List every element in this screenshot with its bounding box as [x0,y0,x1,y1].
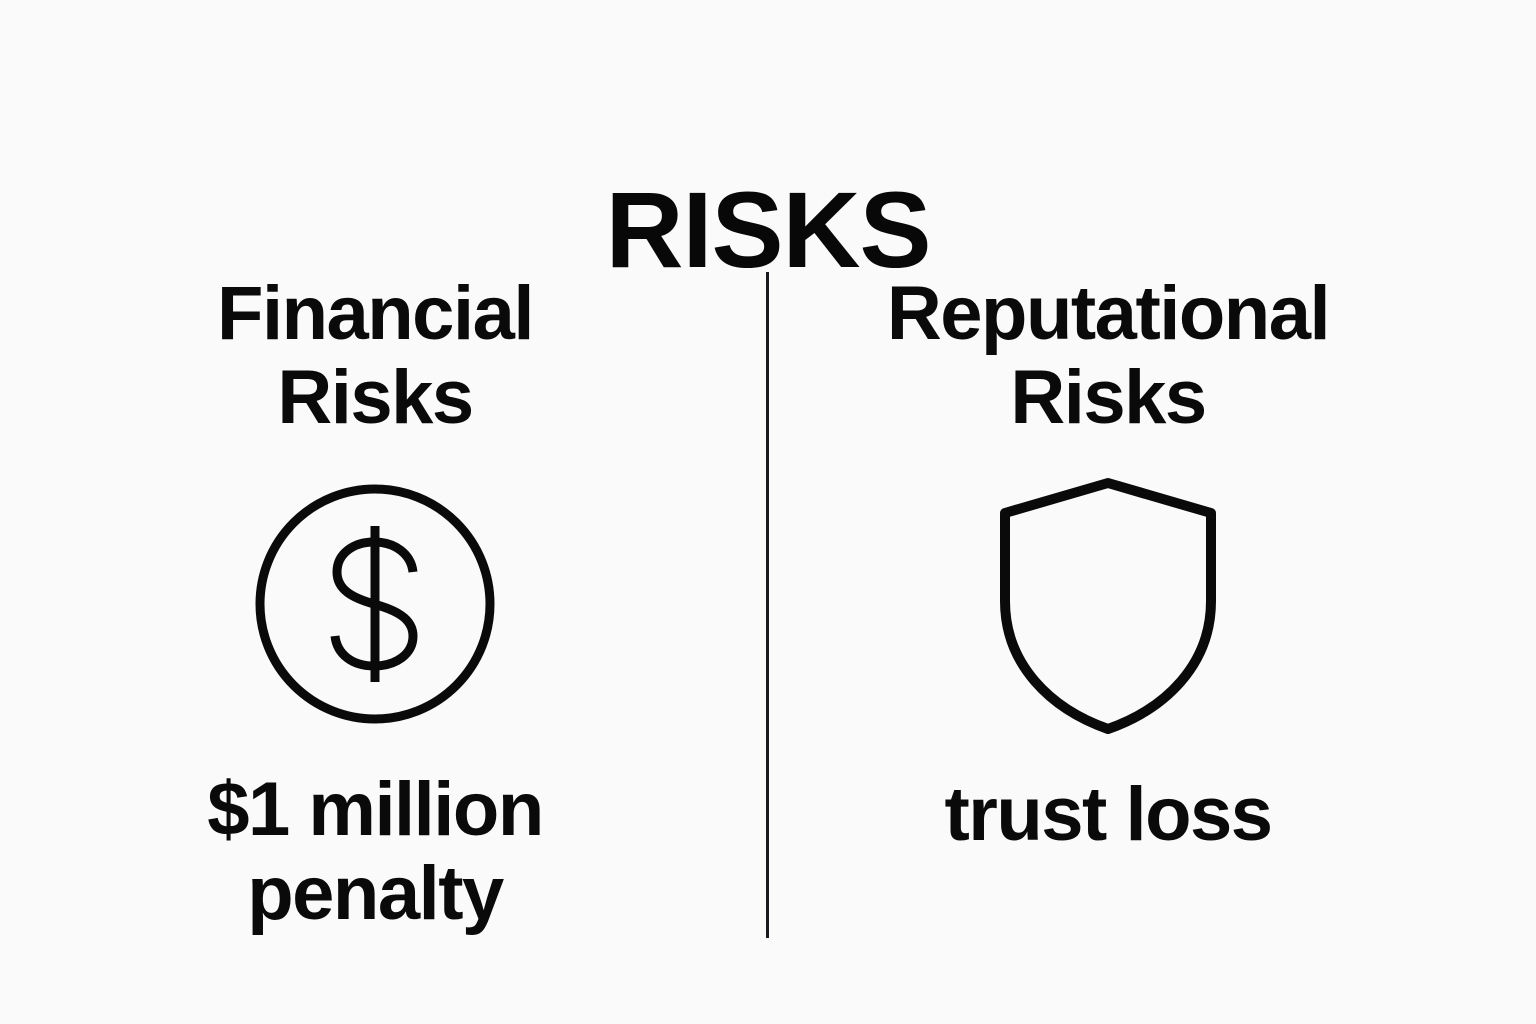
column-caption-reputational: trust loss [944,773,1271,857]
risks-slide: RISKS Financial Risks $1 million penalty… [0,0,1536,1024]
column-caption-financial: $1 million penalty [140,768,610,936]
column-financial-risks: Financial Risks $1 million penalty [115,272,635,936]
column-divider [766,272,769,938]
shield-icon [1000,477,1216,735]
page-title: RISKS [0,176,1536,284]
column-heading-financial: Financial Risks [140,272,610,440]
column-heading-reputational: Reputational Risks [873,272,1343,440]
dollar-circle-icon [255,484,495,724]
column-reputational-risks: Reputational Risks trust loss [848,272,1368,857]
